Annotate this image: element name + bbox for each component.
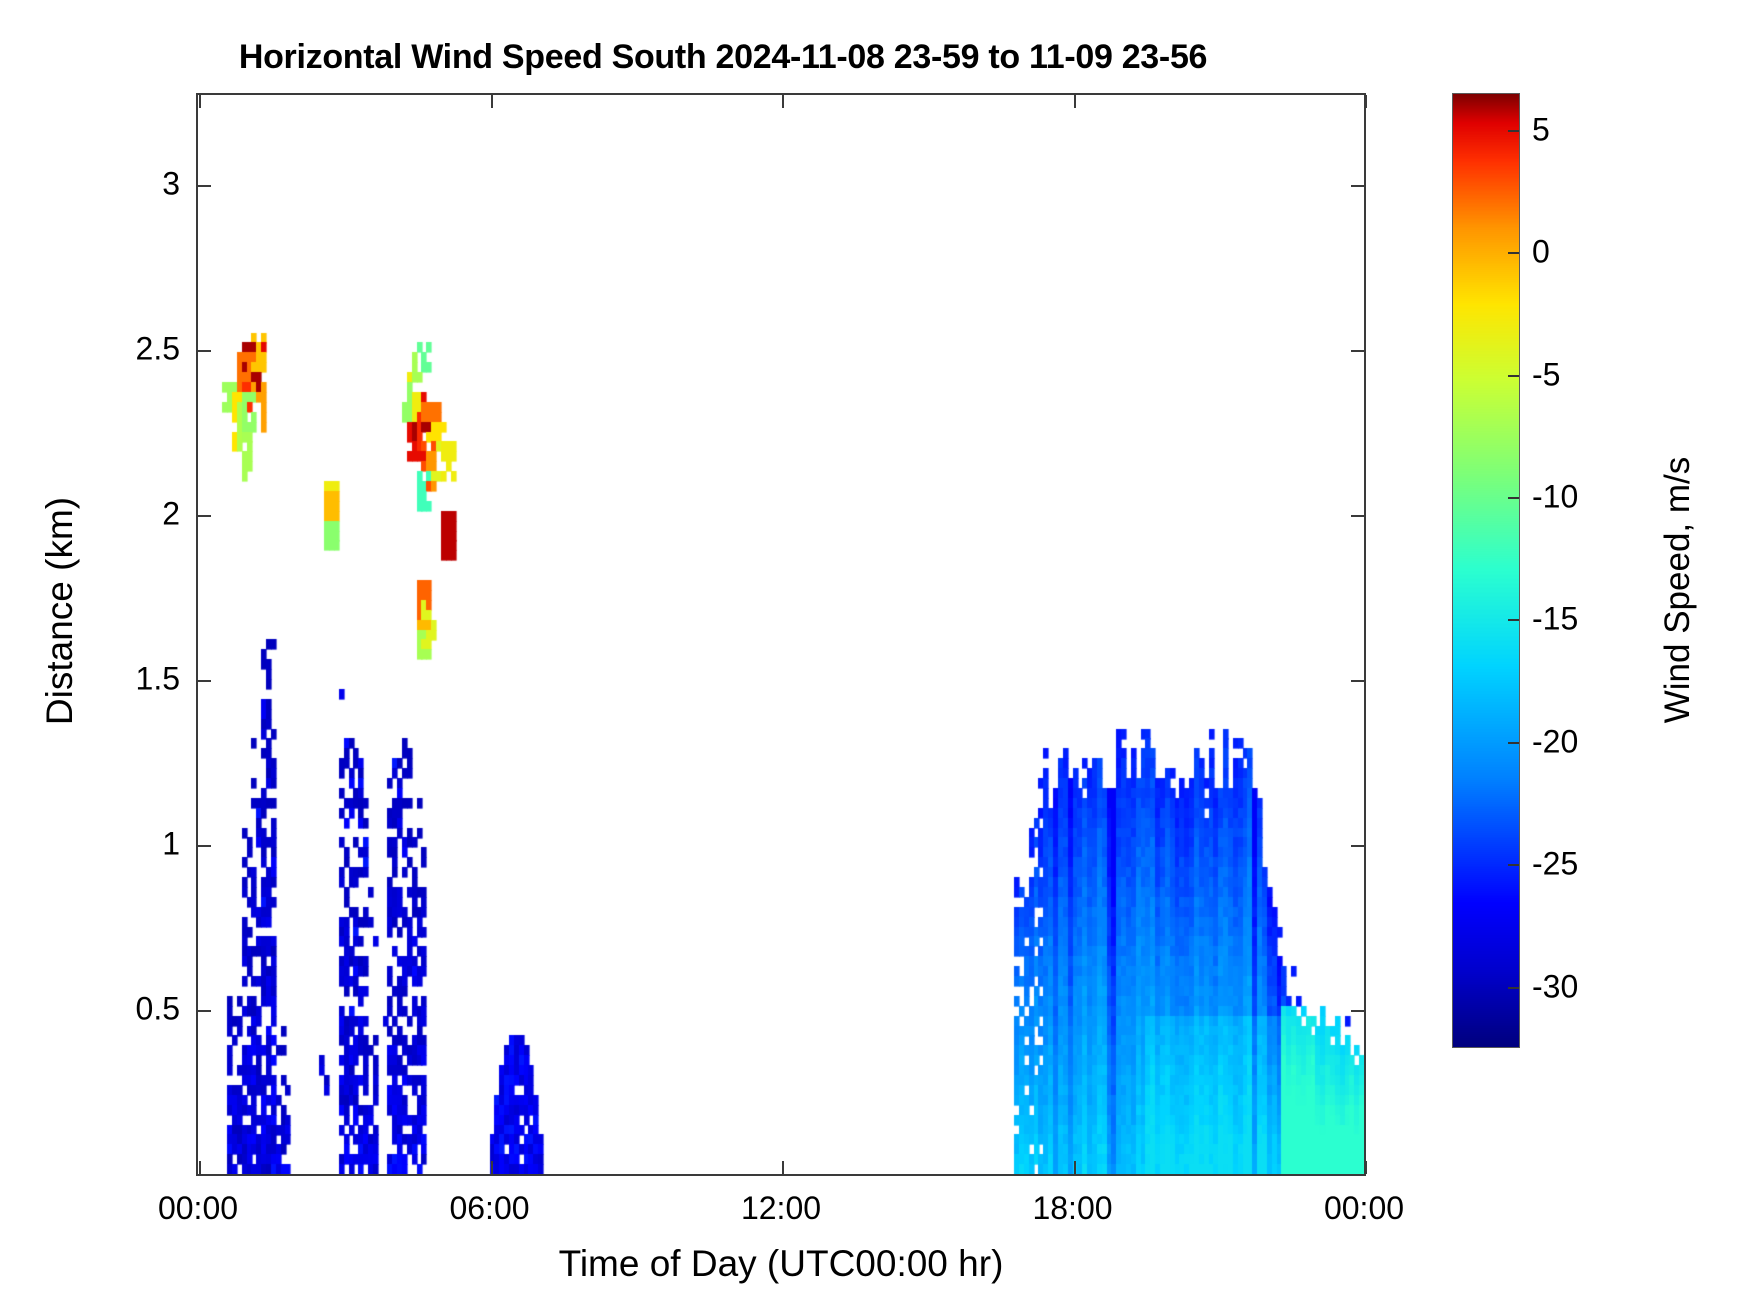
y-tick-2 xyxy=(1351,515,1364,517)
colorbar-tick-label: -15 xyxy=(1532,601,1578,638)
y-tick-1.5 xyxy=(1351,680,1364,682)
x-tick-label: 06:00 xyxy=(449,1190,529,1227)
wind-speed-heatmap-figure: Horizontal Wind Speed South 2024-11-08 2… xyxy=(0,0,1750,1313)
colorbar-tick-0 xyxy=(1508,252,1519,254)
y-axis-label: Distance (km) xyxy=(39,281,81,941)
colorbar-tick-neg30 xyxy=(1508,987,1519,989)
x-tick-18-00 xyxy=(1074,1161,1076,1174)
colorbar-tick-neg5 xyxy=(1508,375,1519,377)
x-tick-label: 00:00 xyxy=(158,1190,238,1227)
y-tick-1 xyxy=(198,845,211,847)
x-tick-label: 00:00 xyxy=(1324,1190,1404,1227)
x-tick-label: 12:00 xyxy=(741,1190,821,1227)
colorbar-tick-neg10 xyxy=(1508,497,1519,499)
y-tick-0.5 xyxy=(1351,1010,1364,1012)
colorbar-tick-label: 5 xyxy=(1532,111,1550,148)
y-tick-label: 2.5 xyxy=(136,331,180,368)
heatmap-plot-area xyxy=(198,95,1364,1174)
colorbar xyxy=(1452,93,1520,1048)
y-tick-2.5 xyxy=(1351,350,1364,352)
y-tick-2 xyxy=(198,515,211,517)
colorbar-tick-label: 0 xyxy=(1532,234,1550,271)
page-title: Horizontal Wind Speed South 2024-11-08 2… xyxy=(108,38,1338,77)
x-tick-18-00 xyxy=(1074,95,1076,108)
colorbar-tick-5 xyxy=(1508,130,1519,132)
colorbar-tick-label: -20 xyxy=(1532,723,1578,760)
y-tick-label: 2 xyxy=(162,496,180,533)
colorbar-tick-neg15 xyxy=(1508,619,1519,621)
y-tick-2.5 xyxy=(198,350,211,352)
y-tick-label: 1 xyxy=(162,826,180,863)
colorbar-tick-label: -10 xyxy=(1532,479,1578,516)
y-tick-0.5 xyxy=(198,1010,211,1012)
y-tick-1.5 xyxy=(198,680,211,682)
x-axis-label: Time of Day (UTC00:00 hr) xyxy=(196,1243,1366,1285)
x-tick-12-00 xyxy=(782,1161,784,1174)
y-tick-label: 0.5 xyxy=(136,991,180,1028)
colorbar-tick-label: -5 xyxy=(1532,356,1560,393)
plot-axes xyxy=(196,93,1366,1176)
x-tick-06-00 xyxy=(491,95,493,108)
colorbar-tick-label: -25 xyxy=(1532,846,1578,883)
x-tick-00-00 xyxy=(1365,1161,1367,1174)
x-tick-00-00 xyxy=(1365,95,1367,108)
x-tick-label: 18:00 xyxy=(1032,1190,1112,1227)
x-tick-00-00 xyxy=(199,1161,201,1174)
x-tick-00-00 xyxy=(199,95,201,108)
colorbar-tick-neg25 xyxy=(1508,864,1519,866)
y-tick-label: 3 xyxy=(162,166,180,203)
y-tick-1 xyxy=(1351,845,1364,847)
y-tick-label: 1.5 xyxy=(136,661,180,698)
x-tick-06-00 xyxy=(491,1161,493,1174)
y-tick-3 xyxy=(1351,185,1364,187)
y-tick-3 xyxy=(198,185,211,187)
x-tick-12-00 xyxy=(782,95,784,108)
colorbar-label: Wind Speed, m/s xyxy=(1658,310,1698,870)
colorbar-tick-label: -30 xyxy=(1532,968,1578,1005)
colorbar-tick-neg20 xyxy=(1508,742,1519,744)
colorbar-gradient xyxy=(1453,94,1519,1047)
